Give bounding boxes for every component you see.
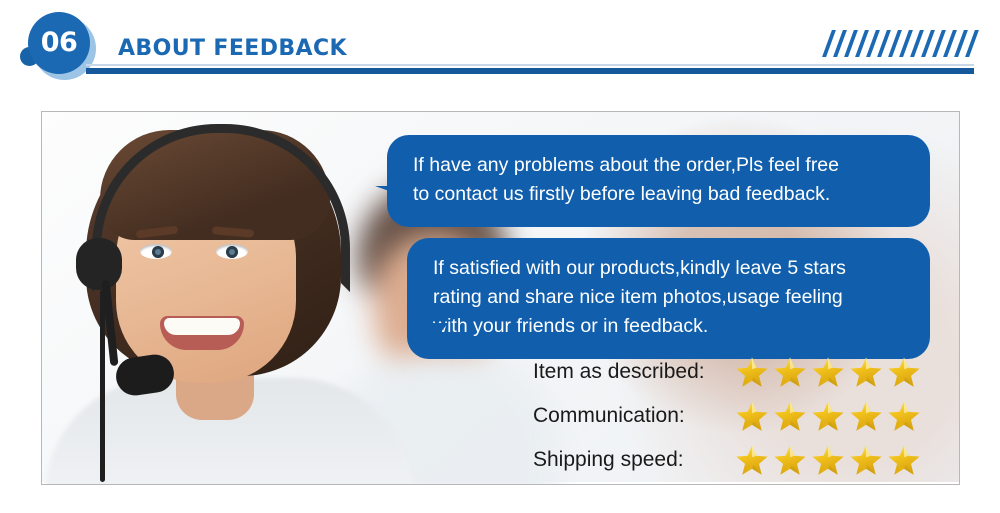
feedback-card: If have any problems about the order,Pls… bbox=[41, 111, 960, 485]
star-icon bbox=[887, 400, 921, 433]
headset-agent-figure bbox=[64, 120, 394, 482]
rating-list: Item as described: Communication: Shippi… bbox=[533, 350, 953, 482]
rating-row-shipping-speed: Shipping speed: bbox=[533, 438, 953, 482]
rating-label: Item as described: bbox=[533, 360, 735, 384]
star-icon bbox=[773, 356, 807, 389]
star-icon bbox=[773, 444, 807, 477]
rating-label: Shipping speed: bbox=[533, 448, 735, 472]
star-icon bbox=[849, 400, 883, 433]
bubble-2-line-2: rating and share nice item photos,usage … bbox=[433, 283, 908, 312]
bubble-2-line-3: with your friends or in feedback. bbox=[433, 312, 908, 341]
star-icon bbox=[811, 444, 845, 477]
speech-bubble-problems: If have any problems about the order,Pls… bbox=[387, 135, 930, 227]
rating-stars-shipping-speed bbox=[735, 444, 921, 477]
star-icon bbox=[811, 356, 845, 389]
speech-bubble-satisfied: If satisfied with our products,kindly le… bbox=[407, 238, 930, 359]
star-icon bbox=[735, 400, 769, 433]
rating-label: Communication: bbox=[533, 404, 735, 428]
star-icon bbox=[849, 444, 883, 477]
star-icon bbox=[887, 444, 921, 477]
bubble-2-line-1: If satisfied with our products,kindly le… bbox=[433, 254, 908, 283]
rating-stars-item-as-described bbox=[735, 356, 921, 389]
rating-row-communication: Communication: bbox=[533, 394, 953, 438]
star-icon bbox=[811, 400, 845, 433]
rating-row-item-as-described: Item as described: bbox=[533, 350, 953, 394]
page-title: ABOUT FEEDBACK bbox=[118, 36, 347, 61]
star-icon bbox=[849, 356, 883, 389]
bubble-1-line-2: to contact us firstly before leaving bad… bbox=[413, 180, 908, 209]
section-header: 06 ABOUT FEEDBACK bbox=[0, 0, 1000, 90]
section-number-badge: 06 bbox=[28, 12, 90, 74]
rating-stars-communication bbox=[735, 400, 921, 433]
diagonal-hash-decoration bbox=[794, 30, 974, 60]
star-icon bbox=[735, 444, 769, 477]
speech-bubble-problems-tail bbox=[375, 186, 403, 216]
star-icon bbox=[773, 400, 807, 433]
hash-mark-icon bbox=[965, 30, 979, 57]
speech-bubble-satisfied-tail bbox=[412, 323, 448, 349]
section-number-label: 06 bbox=[41, 29, 78, 58]
header-rule-bar bbox=[86, 68, 974, 74]
headset-earcup-icon bbox=[76, 238, 122, 290]
bubble-1-line-1: If have any problems about the order,Pls… bbox=[413, 151, 908, 180]
star-icon bbox=[735, 356, 769, 389]
star-icon bbox=[887, 356, 921, 389]
header-rule-light bbox=[86, 64, 974, 66]
